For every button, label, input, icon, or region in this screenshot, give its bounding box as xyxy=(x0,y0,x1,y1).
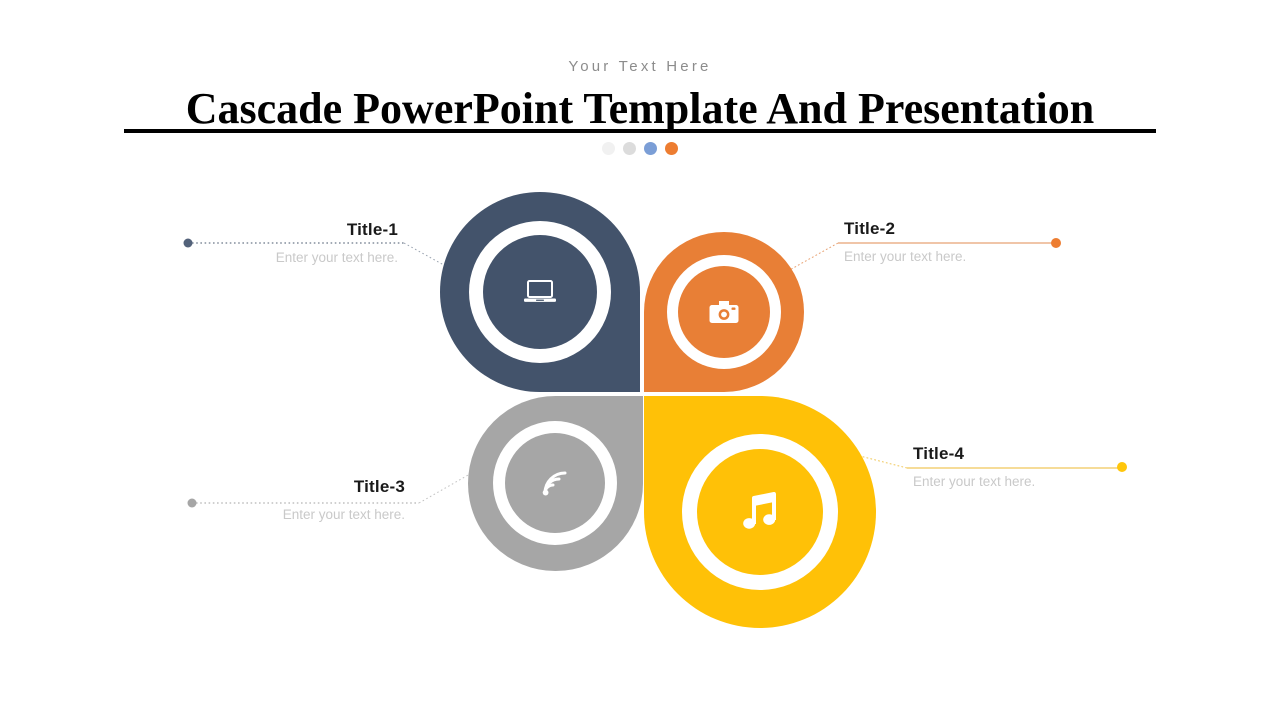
segment-3-title: Title-3 xyxy=(148,477,405,497)
segment-2-label-block[interactable]: Title-2 Enter your text here. xyxy=(844,219,1144,264)
petal-diagram xyxy=(0,0,1280,720)
segment-2-petal[interactable] xyxy=(644,232,804,392)
segment-3-petal[interactable] xyxy=(468,396,643,571)
slide-canvas: Your Text Here Cascade PowerPoint Templa… xyxy=(0,0,1280,720)
music-note-icon xyxy=(726,478,794,546)
segment-4-title: Title-4 xyxy=(913,444,1213,464)
segment-4-body: Enter your text here. xyxy=(913,474,1213,489)
segment-1-petal[interactable] xyxy=(440,192,640,392)
wifi-signal-icon xyxy=(526,454,584,512)
segment-1-title: Title-1 xyxy=(143,220,398,240)
camera-icon xyxy=(699,287,749,337)
segment-1-body: Enter your text here. xyxy=(143,250,398,265)
segment-4-petal[interactable] xyxy=(644,396,876,628)
laptop-icon xyxy=(510,262,570,322)
segment-2-title: Title-2 xyxy=(844,219,1144,239)
segment-3-label-block[interactable]: Title-3 Enter your text here. xyxy=(148,477,405,522)
segment-3-body: Enter your text here. xyxy=(148,507,405,522)
segment-2-body: Enter your text here. xyxy=(844,249,1144,264)
segment-4-label-block[interactable]: Title-4 Enter your text here. xyxy=(913,444,1213,489)
segment-1-label-block[interactable]: Title-1 Enter your text here. xyxy=(143,220,398,265)
